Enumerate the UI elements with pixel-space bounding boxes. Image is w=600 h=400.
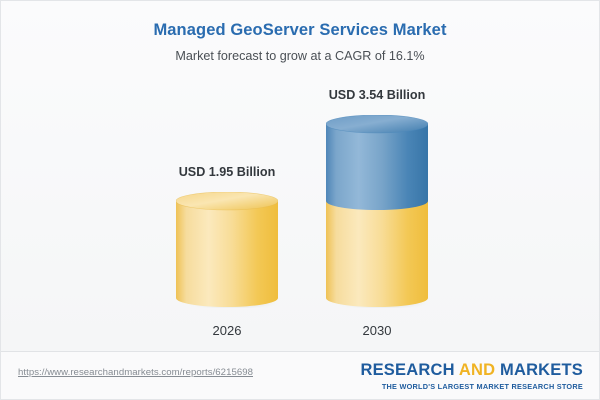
research-and-markets-logo[interactable]: RESEARCH AND MARKETS THE WORLD'S LARGEST… bbox=[360, 361, 583, 391]
logo-word-research: RESEARCH bbox=[360, 361, 458, 379]
report-url-link[interactable]: https://www.researchandmarkets.com/repor… bbox=[18, 367, 253, 378]
x-axis-label-2030: 2030 bbox=[277, 323, 477, 338]
logo-wordmark: RESEARCH AND MARKETS bbox=[360, 361, 583, 380]
logo-word-markets: MARKETS bbox=[495, 361, 583, 379]
cylinder-2030[interactable] bbox=[326, 115, 428, 308]
bar-value-label-2030: USD 3.54 Billion bbox=[277, 88, 477, 102]
cylinder-2026[interactable] bbox=[176, 192, 278, 308]
bar-group-2026: USD 1.95 Billion bbox=[176, 192, 278, 308]
chart-plot-area: USD 1.95 Billion bbox=[1, 1, 600, 400]
infographic-card: Managed GeoServer Services Market Market… bbox=[0, 0, 600, 400]
logo-tagline: THE WORLD'S LARGEST MARKET RESEARCH STOR… bbox=[360, 382, 583, 391]
bar-value-label-2026: USD 1.95 Billion bbox=[127, 165, 327, 179]
bar-group-2030: USD 3.54 Billion bbox=[326, 115, 428, 308]
logo-word-and: AND bbox=[459, 361, 495, 379]
footer-bar: https://www.researchandmarkets.com/repor… bbox=[1, 351, 599, 399]
